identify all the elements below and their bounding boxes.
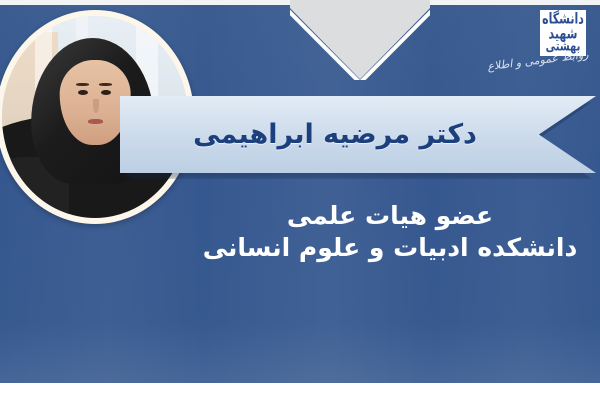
page-title: دکتر مرضیه ابراهیمی — [193, 121, 523, 148]
subtitle-line-role: عضو هیات علمی — [200, 200, 580, 232]
public-relations-caption: روابط عمومی و اطلاع رسانی — [484, 48, 591, 94]
photo-eye — [101, 90, 111, 95]
name-ribbon: دکتر مرضیه ابراهیمی — [120, 96, 596, 173]
photo-nose — [93, 99, 99, 113]
photo-eyebrow — [99, 83, 112, 86]
subtitle-block: عضو هیات علمی دانشکده ادبیات و علوم انسا… — [200, 200, 580, 264]
photo-mouth — [88, 119, 103, 124]
university-logo: دانشگاه شهید بهشتی روابط عمومی و اطلاع ر… — [482, 6, 592, 96]
ribbon-body: دکتر مرضیه ابراهیمی — [120, 96, 596, 173]
background-bottom-fade — [0, 323, 600, 383]
v-notch-decoration — [290, 0, 430, 80]
subtitle-line-faculty: دانشکده ادبیات و علوم انسانی — [200, 232, 580, 264]
v-notch-fill — [290, 0, 430, 80]
profile-card: دکتر مرضیه ابراهیمی عضو هیات علمی دانشکد… — [0, 0, 600, 400]
photo-eyebrow — [76, 83, 89, 86]
